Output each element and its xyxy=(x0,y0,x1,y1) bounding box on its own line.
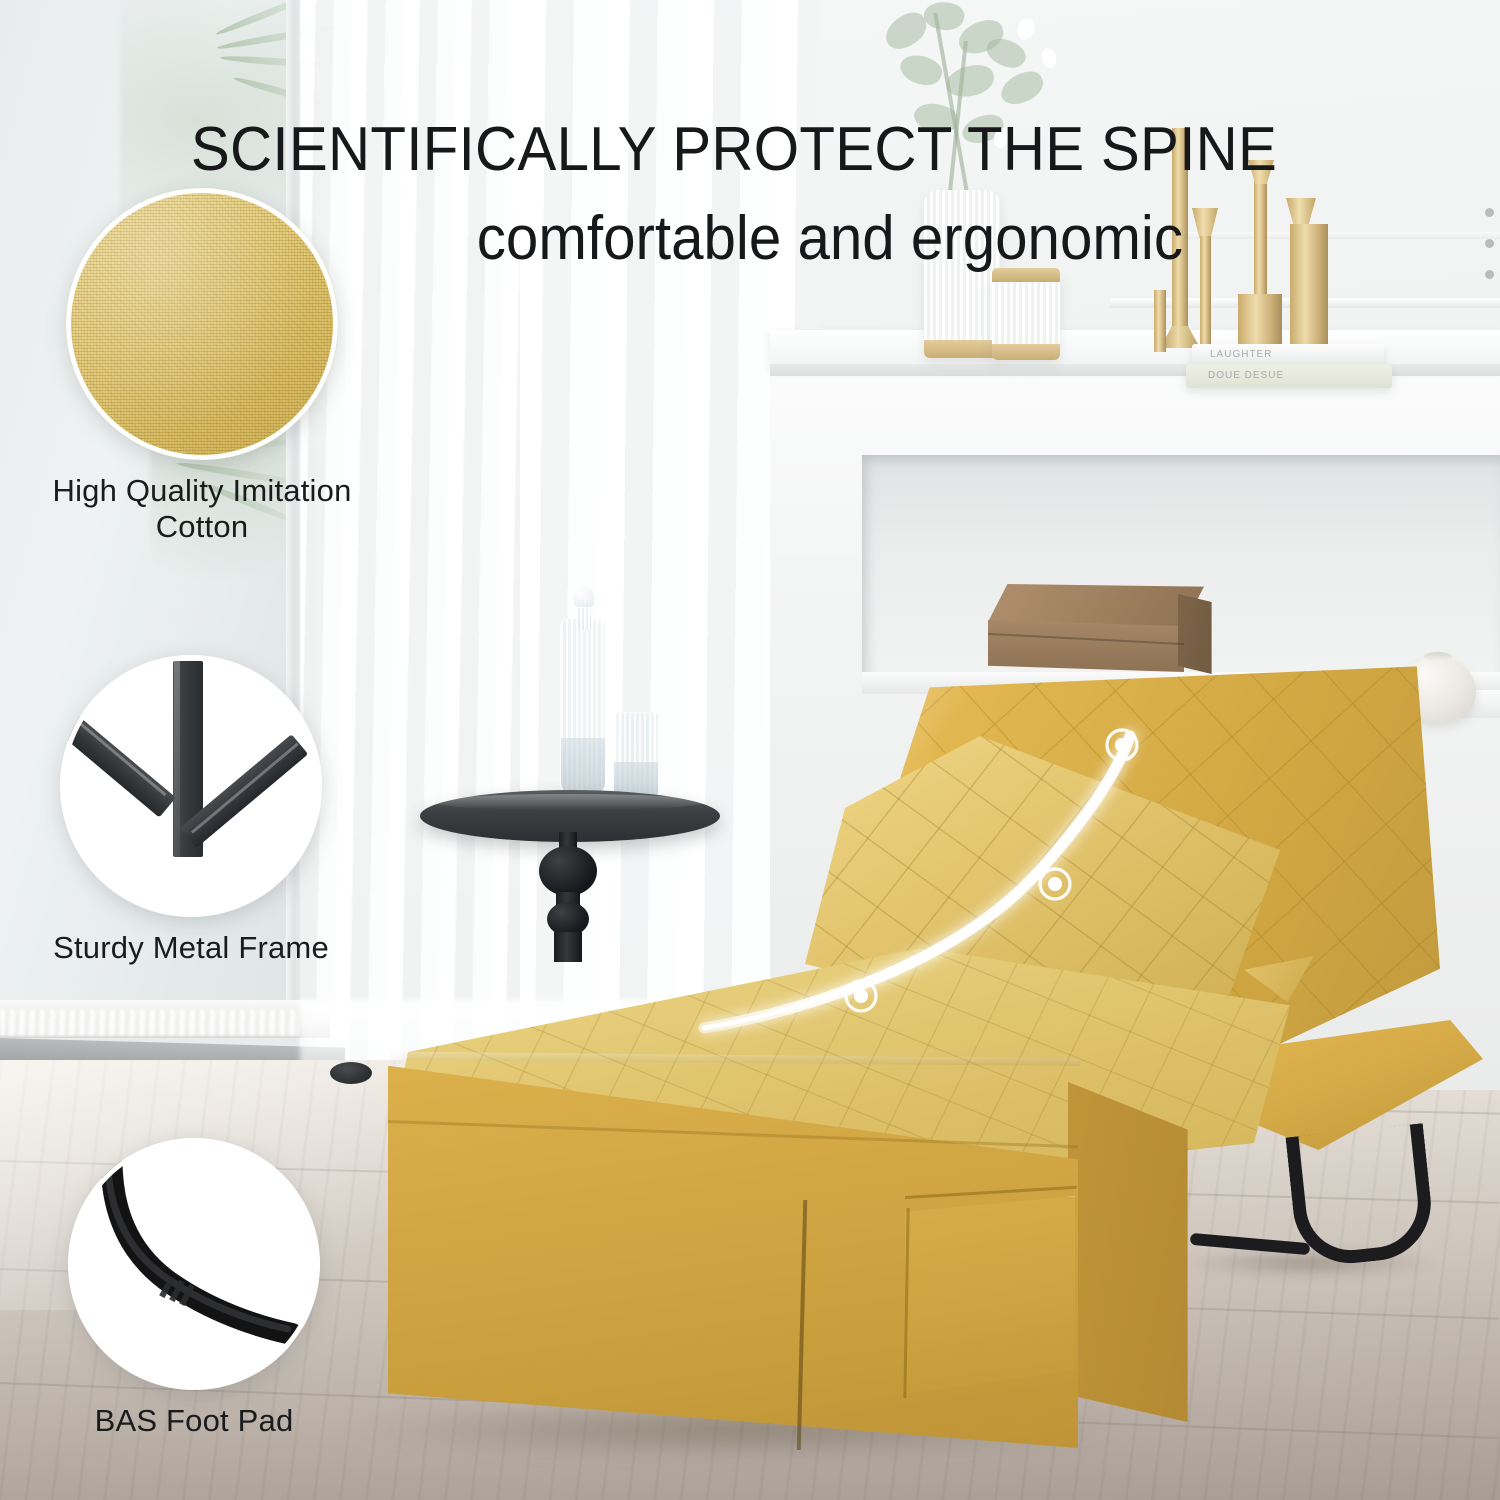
feature-callout-metal-frame: Sturdy Metal Frame xyxy=(60,655,336,966)
side-pocket xyxy=(905,1196,1075,1394)
caster-wheel xyxy=(330,1062,372,1084)
feature-callout-foot-pad: BAS Foot Pad xyxy=(68,1138,334,1439)
feature-label-metal-frame: Sturdy Metal Frame xyxy=(46,930,336,966)
feature-label-foot-pad: BAS Foot Pad xyxy=(54,1403,334,1439)
fabric-swatch-icon xyxy=(66,188,338,460)
metal-frame-joint-icon xyxy=(60,655,322,917)
product-marketing-image: LAUGHTER DOUE DESUE xyxy=(0,0,1500,1500)
feature-label-imitation-cotton: High Quality Imitation Cotton xyxy=(52,473,352,545)
curved-tube-icon xyxy=(68,1138,320,1390)
feature-callout-imitation-cotton: High Quality Imitation Cotton xyxy=(66,188,352,545)
